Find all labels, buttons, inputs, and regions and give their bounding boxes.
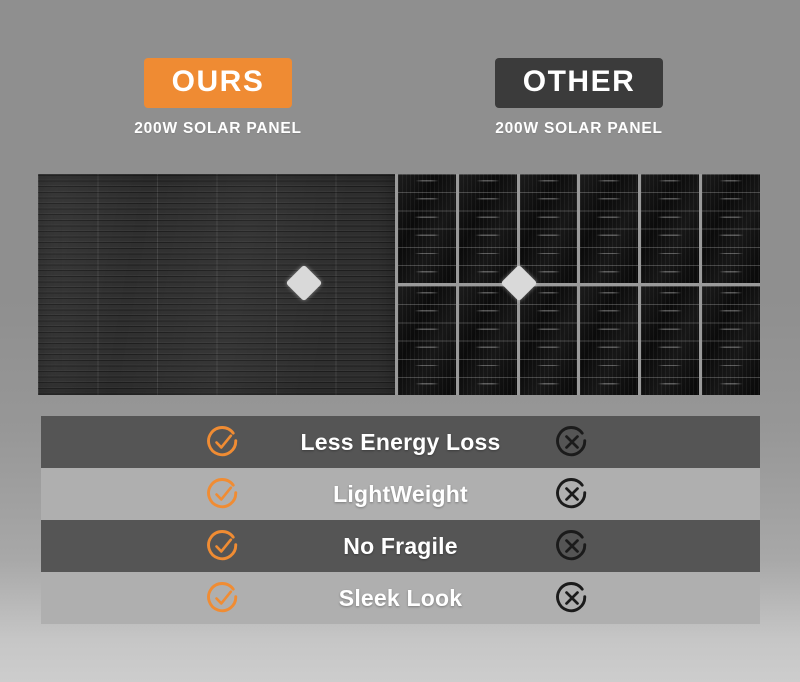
feature-label: Sleek Look [41,585,760,612]
solar-cell-block [702,174,760,283]
cross-circle-icon [555,529,589,563]
feature-label: No Fragile [41,533,760,560]
check-circle-icon [206,581,240,615]
other-badge: OTHER [495,58,664,108]
cross-circle-icon [555,425,589,459]
solar-cell-block [459,286,517,395]
solar-cell-block [398,286,456,395]
ours-sublabel: 200W SOLAR PANEL [38,121,398,137]
table-row: LightWeight [41,468,760,520]
solar-cell-block [580,174,638,283]
ours-badge: OURS [144,58,293,108]
solar-cell-block [520,286,578,395]
solar-cell-block [520,174,578,283]
ours-solar-panel-image [38,174,395,395]
feature-label: LightWeight [41,481,760,508]
column-header-other: OTHER 200W SOLAR PANEL [398,58,760,137]
solar-cell-block [459,174,517,283]
table-row: Less Energy Loss [41,416,760,468]
column-header-ours: OURS 200W SOLAR PANEL [38,58,398,137]
cross-circle-icon [555,477,589,511]
solar-cell-block [641,174,699,283]
table-row: Sleek Look [41,572,760,624]
other-solar-panel-image [395,174,760,395]
feature-label: Less Energy Loss [41,429,760,456]
other-sublabel: 200W SOLAR PANEL [398,121,760,137]
solar-cell-block [580,286,638,395]
cross-circle-icon [555,581,589,615]
check-circle-icon [206,477,240,511]
solar-cell-block [641,286,699,395]
panel-comparison-image [38,174,760,395]
check-circle-icon [206,529,240,563]
comparison-infographic: OURS 200W SOLAR PANEL OTHER 200W SOLAR P… [0,0,800,682]
feature-comparison-table: Less Energy Loss LightWeight [41,416,760,624]
solar-cell-block [398,174,456,283]
solar-cell-block [702,286,760,395]
table-row: No Fragile [41,520,760,572]
check-circle-icon [206,425,240,459]
